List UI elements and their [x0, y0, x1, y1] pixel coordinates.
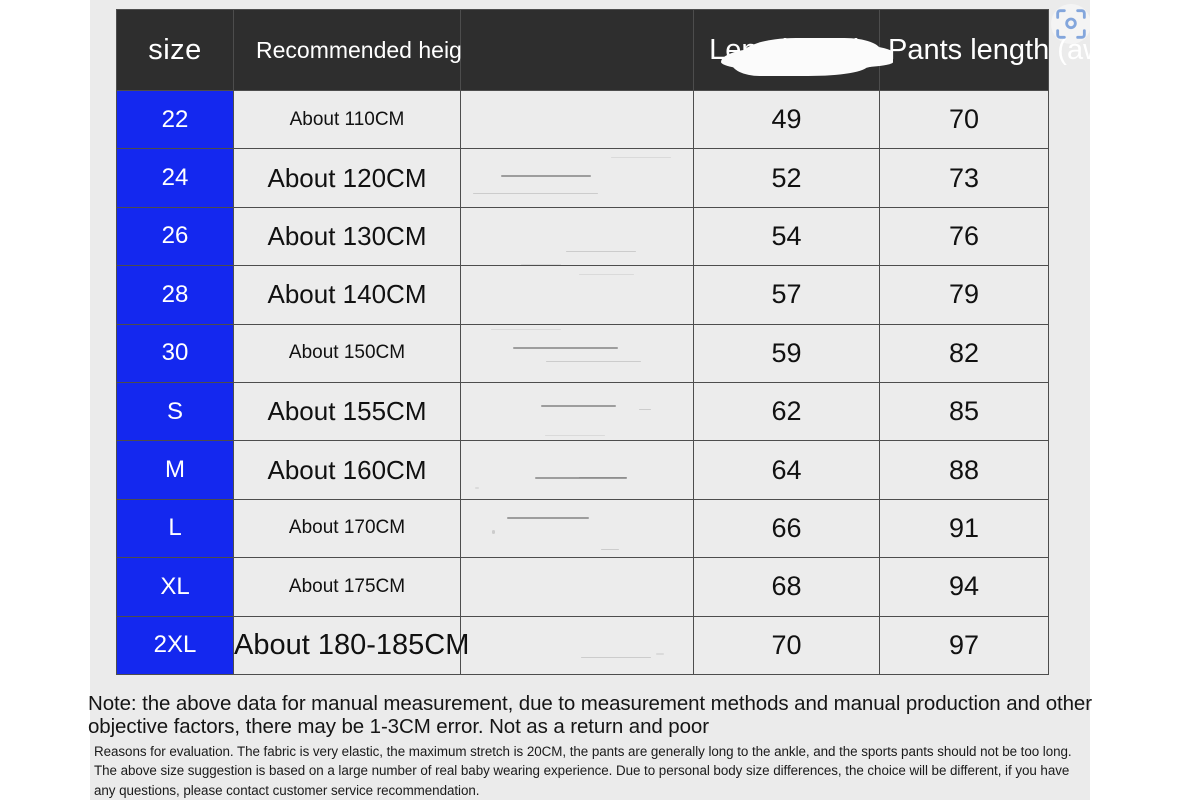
cell-recommended-height: About 170CM — [234, 499, 461, 557]
cell-blank-erased — [461, 324, 694, 382]
cell-recommended-height: About 155CM — [234, 382, 461, 440]
erasure-smudge — [546, 361, 641, 362]
cell-blank-erased — [461, 441, 694, 499]
table-row: 28About 140CM5779 — [117, 266, 1049, 324]
table-row: SAbout 155CM6285 — [117, 382, 1049, 440]
cell-pants-length: 76 — [880, 207, 1049, 265]
cell-blank-erased — [461, 558, 694, 616]
erasure-smudge — [566, 251, 636, 252]
cell-recommended-height: About 130CM — [234, 207, 461, 265]
cell-size: XL — [117, 558, 234, 616]
cell-size: S — [117, 382, 234, 440]
cell-recommended-height: About 175CM — [234, 558, 461, 616]
cell-size: M — [117, 441, 234, 499]
table-row: 26About 130CM5476 — [117, 207, 1049, 265]
erasure-smudge — [492, 530, 495, 534]
cell-length: 70 — [694, 616, 880, 674]
cell-pants-length: 73 — [880, 149, 1049, 207]
cell-recommended-height-label: About 120CM — [268, 163, 427, 194]
column-header-pants-length-label: Pants length (aw) — [888, 34, 1118, 66]
cell-size: 26 — [117, 207, 234, 265]
erasure-smudge — [579, 274, 634, 275]
erasure-smudge — [656, 653, 664, 655]
cell-length: 49 — [694, 91, 880, 149]
cell-recommended-height-label: About 175CM — [289, 576, 405, 598]
cell-recommended-height-label: About 150CM — [289, 342, 405, 364]
erasure-smudge — [611, 157, 671, 158]
column-header-blank — [461, 10, 694, 91]
page-root: size Recommended height (CM) Length (cM)… — [0, 0, 1187, 811]
cell-length: 64 — [694, 441, 880, 499]
cell-length: 57 — [694, 266, 880, 324]
cell-size: L — [117, 499, 234, 557]
cell-blank-erased — [461, 499, 694, 557]
cell-blank-erased — [461, 382, 694, 440]
cell-pants-length: 79 — [880, 266, 1049, 324]
erasure-smudge — [541, 405, 616, 407]
cell-recommended-height-label: About 130CM — [268, 221, 427, 252]
erasure-smudge — [475, 487, 479, 489]
header-row: size Recommended height (CM) Length (cM)… — [117, 10, 1049, 91]
erasure-smudge — [639, 409, 651, 410]
note-secondary: Reasons for evaluation. The fabric is ve… — [94, 742, 1086, 800]
cell-pants-length: 88 — [880, 441, 1049, 499]
erasure-smudge — [491, 329, 561, 330]
cell-recommended-height-label: About 170CM — [289, 517, 405, 539]
cell-recommended-height: About 150CM — [234, 324, 461, 382]
cell-length: 59 — [694, 324, 880, 382]
cell-recommended-height-label: About 110CM — [290, 109, 405, 131]
cell-length: 54 — [694, 207, 880, 265]
cell-pants-length: 85 — [880, 382, 1049, 440]
cell-size: 28 — [117, 266, 234, 324]
erasure-smudge — [545, 435, 605, 436]
erasure-smudge — [501, 175, 591, 177]
cell-recommended-height: About 180-185CM — [234, 616, 461, 674]
cell-recommended-height: About 140CM — [234, 266, 461, 324]
cell-pants-length: 97 — [880, 616, 1049, 674]
size-chart-table: size Recommended height (CM) Length (cM)… — [116, 9, 1049, 675]
erasure-smudge — [579, 477, 627, 478]
cell-recommended-height-label: About 160CM — [268, 455, 427, 486]
cell-blank-erased — [461, 266, 694, 324]
column-header-pants-length: Pants length (aw) — [880, 10, 1049, 91]
cell-length: 52 — [694, 149, 880, 207]
table-body: 22About 110CM497024About 120CM527326Abou… — [117, 91, 1049, 675]
cell-pants-length: 82 — [880, 324, 1049, 382]
note-primary: Note: the above data for manual measurem… — [88, 692, 1092, 738]
cell-blank-erased — [461, 616, 694, 674]
cell-recommended-height: About 160CM — [234, 441, 461, 499]
cell-blank-erased — [461, 207, 694, 265]
cell-pants-length: 70 — [880, 91, 1049, 149]
table-row: MAbout 160CM6488 — [117, 441, 1049, 499]
erasure-smudge — [513, 347, 618, 349]
cell-length: 62 — [694, 382, 880, 440]
column-header-length: Length (cM) — [694, 10, 880, 91]
erasure-smudge — [535, 477, 627, 479]
cell-recommended-height: About 110CM — [234, 91, 461, 149]
table-header: size Recommended height (CM) Length (cM)… — [117, 10, 1049, 91]
table-row: 24About 120CM5273 — [117, 149, 1049, 207]
cell-pants-length: 94 — [880, 558, 1049, 616]
cell-length: 68 — [694, 558, 880, 616]
table-row: XLAbout 175CM6894 — [117, 558, 1049, 616]
cell-pants-length: 91 — [880, 499, 1049, 557]
cell-size: 22 — [117, 91, 234, 149]
cell-blank-erased — [461, 149, 694, 207]
erasure-smudge — [473, 193, 598, 194]
erasure-smudge — [581, 657, 651, 658]
column-header-size: size — [117, 10, 234, 91]
cell-length: 66 — [694, 499, 880, 557]
table-row: LAbout 170CM6691 — [117, 499, 1049, 557]
cell-size: 2XL — [117, 616, 234, 674]
column-header-recommended-height: Recommended height (CM) — [234, 10, 461, 91]
cell-size: 24 — [117, 149, 234, 207]
cell-recommended-height-label: About 140CM — [268, 279, 427, 310]
table-row: 2XLAbout 180-185CM7097 — [117, 616, 1049, 674]
cell-size: 30 — [117, 324, 234, 382]
cell-recommended-height-label: About 180-185CM — [234, 629, 469, 662]
erasure-smudge — [601, 549, 619, 550]
cell-recommended-height-label: About 155CM — [268, 396, 427, 427]
table-row: 30About 150CM5982 — [117, 324, 1049, 382]
cell-blank-erased — [461, 91, 694, 149]
erasure-smudge — [521, 264, 561, 265]
table-row: 22About 110CM4970 — [117, 91, 1049, 149]
erasure-smudge — [507, 517, 589, 519]
cell-recommended-height: About 120CM — [234, 149, 461, 207]
